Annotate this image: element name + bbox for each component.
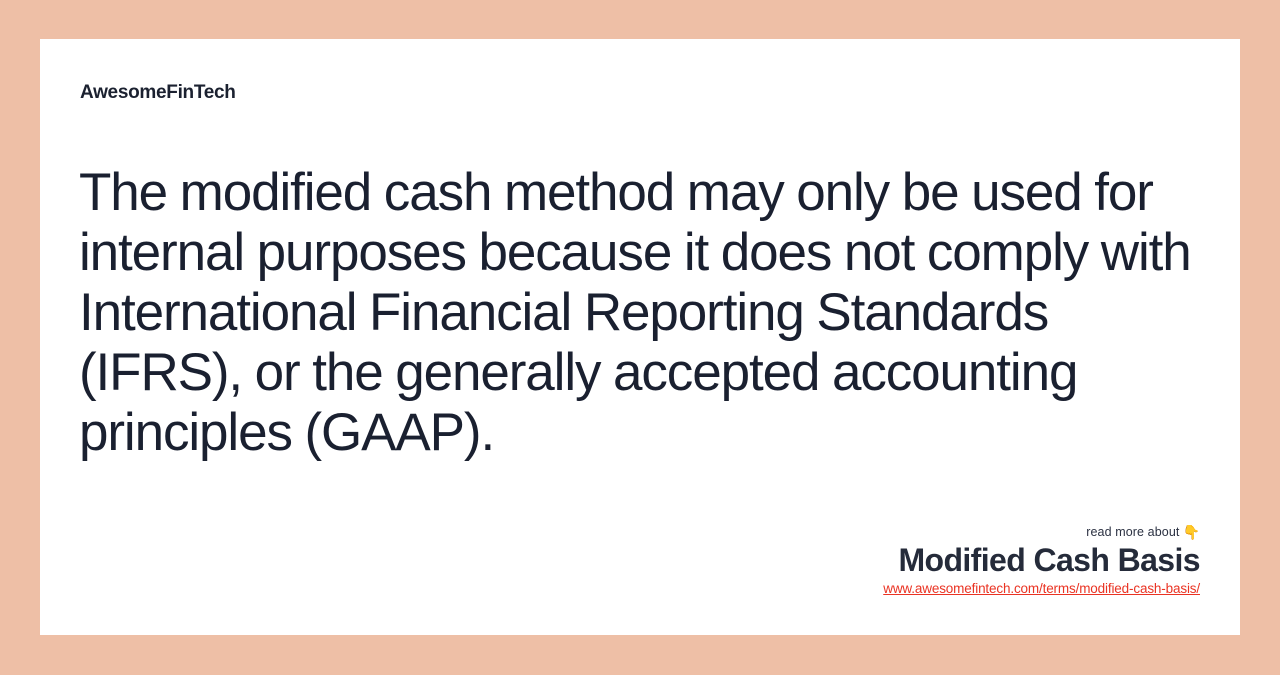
attribution-block: read more about👇 Modified Cash Basis www… xyxy=(560,524,1200,598)
quote-text: The modified cash method may only be use… xyxy=(79,163,1199,463)
quote-card: AwesomeFinTech The modified cash method … xyxy=(40,39,1240,635)
pointing-down-hand-icon: 👇 xyxy=(1182,524,1200,540)
brand-logo: AwesomeFinTech xyxy=(80,83,236,102)
term-url-link[interactable]: www.awesomefintech.com/terms/modified-ca… xyxy=(883,580,1200,597)
term-title: Modified Cash Basis xyxy=(560,541,1200,579)
read-more-label: read more about xyxy=(1086,525,1179,539)
page-canvas: AwesomeFinTech The modified cash method … xyxy=(0,0,1280,675)
read-more-line: read more about👇 xyxy=(560,524,1200,540)
